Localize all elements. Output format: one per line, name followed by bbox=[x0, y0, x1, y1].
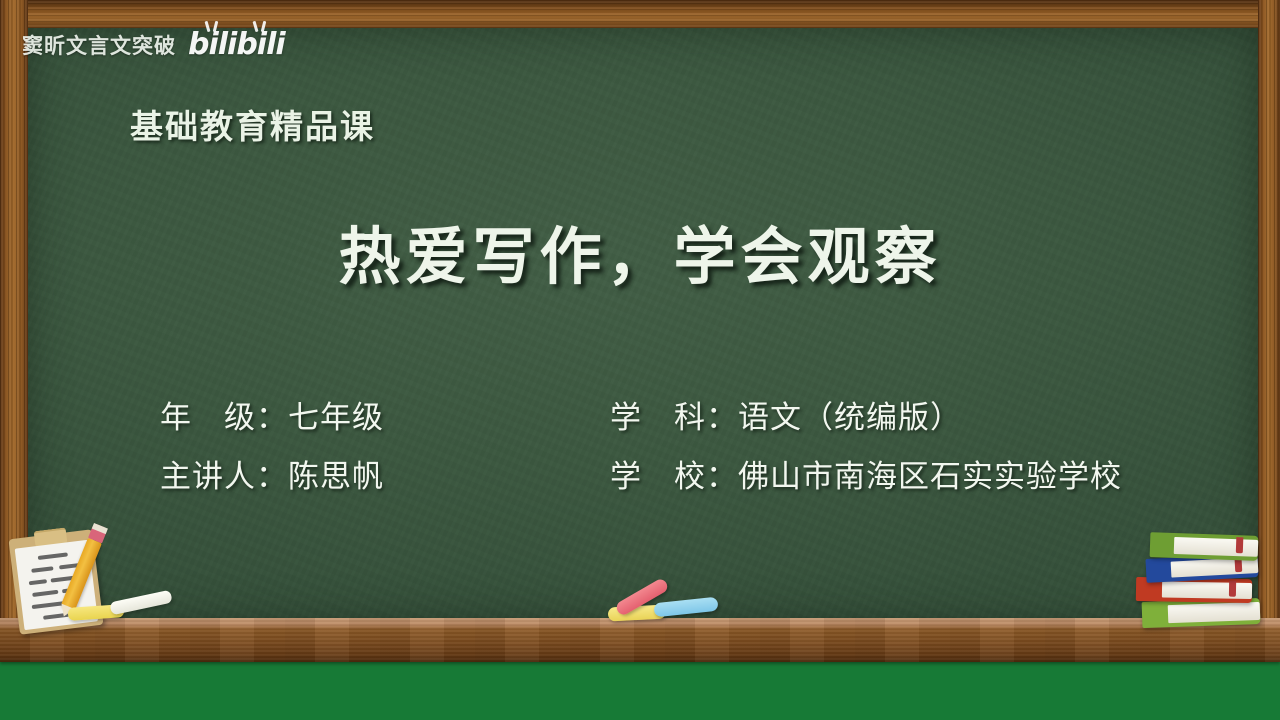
bookmark-ribbon bbox=[1236, 537, 1244, 553]
pencil-eraser bbox=[88, 523, 108, 543]
watermark: 窦昕文言文突破 bilibili bbox=[22, 30, 285, 60]
background-wall bbox=[0, 660, 1280, 720]
watermark-channel-name: 窦昕文言文突破 bbox=[22, 30, 176, 60]
slide-canvas: 窦昕文言文突破 bilibili 基础教育精品课 热爱写作，学会观察 年 级：七… bbox=[0, 0, 1280, 720]
lesson-info-block: 年 级：七年级 学 科：语文（统编版） 主讲人：陈思帆 学 校：佛山市南海区石实… bbox=[160, 392, 1220, 510]
book-stack-decoration bbox=[1136, 528, 1262, 636]
info-row: 年 级：七年级 学 科：语文（统编版） bbox=[160, 392, 1220, 437]
info-presenter: 主讲人：陈思帆 bbox=[160, 451, 610, 496]
info-subject-value: 语文（统编版） bbox=[738, 400, 962, 436]
bilibili-wordmark: bilibili bbox=[188, 27, 285, 62]
chalk-decoration-group bbox=[596, 586, 726, 628]
book-green-top bbox=[1150, 532, 1259, 561]
pencil-ferrule bbox=[92, 523, 108, 534]
board-frame-top bbox=[0, 0, 1280, 28]
info-presenter-label: 主讲人： bbox=[160, 451, 288, 496]
bilibili-logo-icon: bilibili bbox=[188, 30, 285, 60]
chalk-blue-center bbox=[653, 597, 718, 618]
info-presenter-value: 陈思帆 bbox=[288, 459, 384, 495]
info-grade-label: 年 级： bbox=[160, 392, 288, 437]
book-pages bbox=[1173, 537, 1258, 557]
info-school: 学 校：佛山市南海区石实实验学校 bbox=[610, 451, 1220, 496]
info-subject: 学 科：语文（统编版） bbox=[610, 392, 1220, 437]
info-school-label: 学 校： bbox=[610, 451, 738, 496]
info-row: 主讲人：陈思帆 学 校：佛山市南海区石实实验学校 bbox=[160, 451, 1220, 496]
lesson-title: 热爱写作，学会观察 bbox=[0, 206, 1280, 296]
book-pages bbox=[1168, 602, 1261, 623]
chalk-white-left bbox=[109, 590, 172, 616]
info-grade: 年 级：七年级 bbox=[160, 392, 610, 437]
info-subject-label: 学 科： bbox=[610, 392, 738, 437]
clipboard-decoration-group bbox=[6, 524, 186, 636]
course-series-headline: 基础教育精品课 bbox=[130, 100, 375, 148]
info-school-value: 佛山市南海区石实实验学校 bbox=[738, 459, 1122, 495]
bookmark-ribbon bbox=[1229, 581, 1236, 597]
info-grade-value: 七年级 bbox=[288, 400, 384, 436]
book-pages bbox=[1161, 581, 1252, 599]
